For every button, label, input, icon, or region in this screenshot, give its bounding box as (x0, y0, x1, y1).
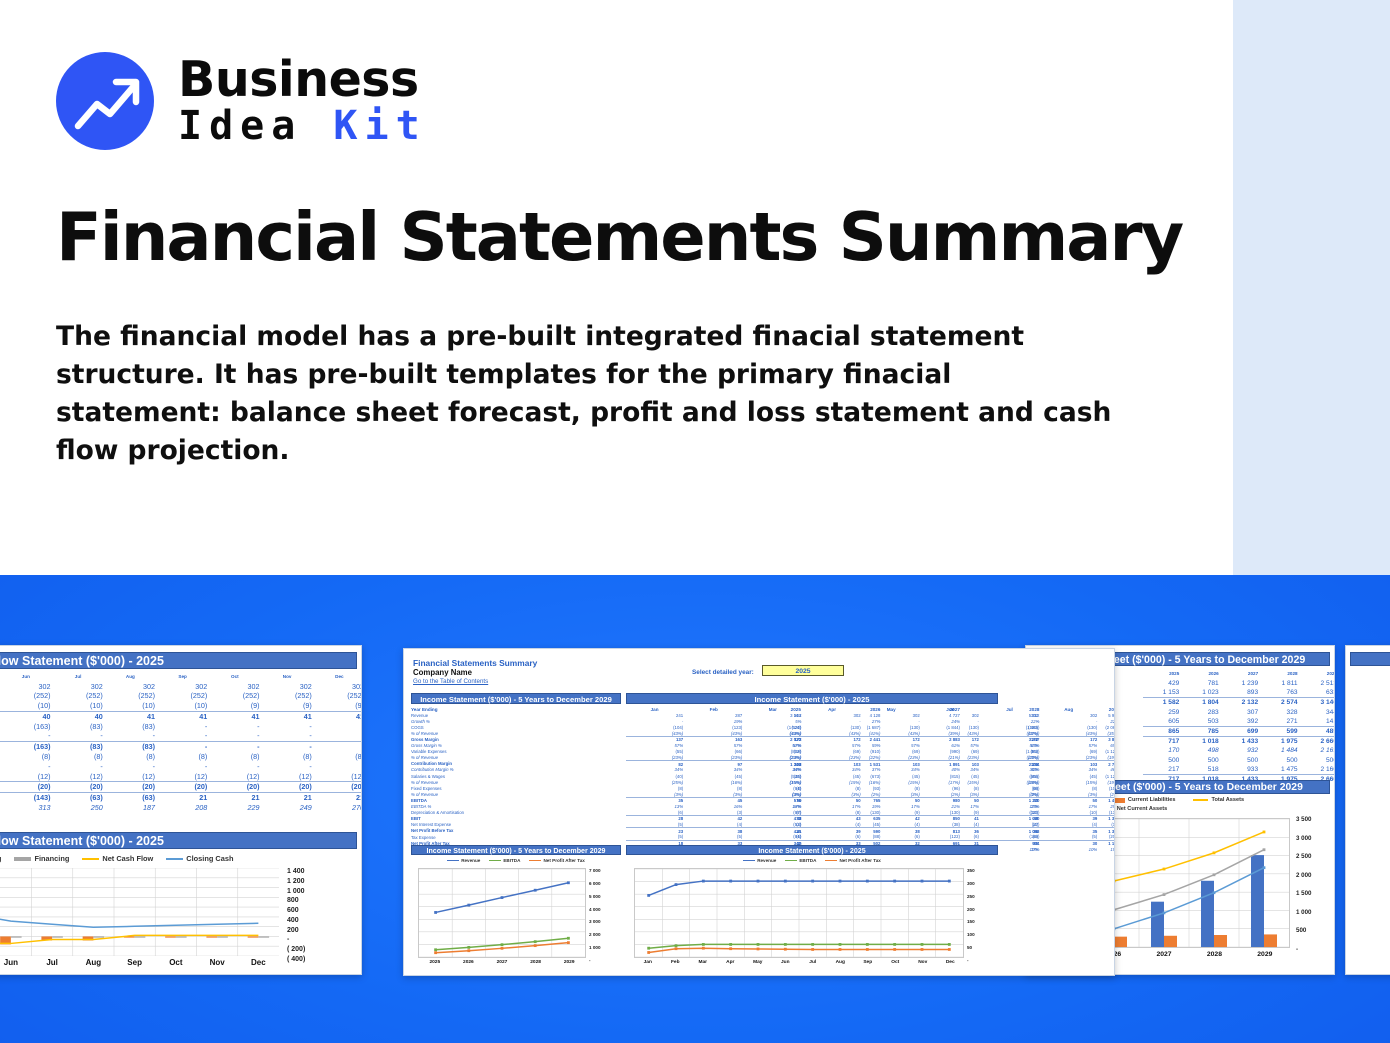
table-cell: 503 (1182, 717, 1221, 727)
table-cell: 249 (263, 803, 315, 813)
table-cell: 500 (1222, 755, 1261, 765)
table-row: (21)(20)(20)(20)(20)(20)(20)(20) (0, 782, 362, 793)
axis-tick-label: 1 000 (287, 888, 305, 895)
table-cell: 271 (1261, 717, 1300, 727)
table-cell: 518 (1182, 765, 1221, 775)
table-cell: 699 (1222, 727, 1261, 737)
table-cell: - (54, 731, 106, 741)
table-row: 93 (1350, 707, 1390, 717)
table-cell: 41 (158, 711, 210, 721)
table-cell: - (106, 761, 158, 771)
trending-up-arrow-icon (56, 52, 154, 150)
table-cell: 259 (1143, 707, 1182, 717)
monthly-income-plot-area (634, 868, 964, 958)
annual-income-statement-title: Income Statement ($'000) - 5 Years to De… (411, 693, 621, 704)
hero-section: Business Idea Kit Financial Statements S… (0, 0, 1390, 575)
axis-tick-label: Oct (882, 960, 910, 965)
table-cell: 229 (210, 803, 262, 813)
axis-tick-label: 7 000 (589, 868, 601, 873)
table-cell: 1 297 (1350, 698, 1390, 708)
legend-label: EBITDA (503, 858, 520, 863)
table-cell: (12) (106, 771, 158, 781)
table-cell: 3 146 (1301, 698, 1335, 708)
table-cell: 605 (1143, 717, 1182, 727)
axis-tick-label: Sep (854, 960, 882, 965)
legend-item: Net Profit After Tax (529, 858, 584, 863)
axis-tick-label: - (287, 936, 289, 943)
table-cell: - (158, 721, 210, 731)
table-cell: (163) (1, 741, 53, 751)
summary-sheet-title: Financial Statements Summary (413, 658, 537, 668)
table-cell: 1 975 (1261, 736, 1300, 746)
table-cell: 786 (1350, 727, 1390, 737)
table-cell: - (158, 731, 210, 741)
cash-flow-x-axis: MayJunJulAugSepOctNovDec (0, 958, 279, 967)
column-header: 2025 (1143, 669, 1182, 679)
legend-item: Financing (14, 854, 69, 863)
column-header: Nov (263, 672, 315, 681)
right-accent-panel (1233, 0, 1390, 575)
table-cell: 2 660 (1301, 736, 1335, 746)
legend-label: Closing Cash (186, 854, 233, 863)
axis-tick-label: 600 (287, 907, 299, 914)
table-cell: 429 (1143, 679, 1182, 689)
brand-name-kit: Kit (333, 103, 426, 149)
table-cell: - (263, 721, 315, 731)
table-header-row: Jan (1350, 669, 1390, 679)
table-cell: 763 (1261, 688, 1300, 698)
table-cell: - (263, 741, 315, 751)
axis-tick-label: Dec (238, 958, 279, 967)
column-header: Oct (210, 672, 262, 681)
table-cell: 302 (106, 681, 158, 691)
balance-sheet-partial-screenshot: Jan1 1741241 297936927865121 08150012512 (1345, 645, 1390, 975)
monthly-income-chart-legend: RevenueEBITDANet Profit After Tax (626, 858, 998, 863)
table-cell: - (54, 761, 106, 771)
column-header: Jul (54, 672, 106, 681)
table-cell: 865 (1143, 727, 1182, 737)
table-cell: 485 (1301, 727, 1335, 737)
legend-label: Net Cash Flow (102, 854, 153, 863)
axis-tick-label: Apr (717, 960, 745, 965)
table-cell: (8) (54, 752, 106, 762)
column-header: Dec (315, 672, 362, 681)
table-cell: 21 (210, 792, 262, 802)
column-header: Jan (1350, 669, 1390, 679)
table-cell: 932 (1222, 746, 1261, 756)
axis-tick-label: 350 (967, 868, 975, 873)
table-row: -------- (0, 731, 362, 741)
legend-swatch (82, 858, 99, 860)
table-cell: 21 (263, 792, 315, 802)
partial-title-bar (1350, 652, 1390, 666)
table-cell: 217 (1143, 765, 1182, 775)
cash-flow-table: MayJunJulAugSepOctNovDec3023023023023023… (0, 672, 362, 812)
axis-tick-label: Jul (32, 958, 73, 967)
axis-tick-label: 150 (967, 919, 975, 924)
table-cell: (20) (315, 782, 362, 793)
table-cell: - (315, 731, 362, 741)
table-cell: (20) (106, 782, 158, 793)
column-header: Aug (106, 672, 158, 681)
table-cell: 633 (1301, 688, 1335, 698)
legend-label: Investing (0, 854, 1, 863)
table-cell: 344 (1301, 707, 1335, 717)
legend-label: Revenue (757, 858, 776, 863)
table-cell: (20) (158, 782, 210, 793)
table-row: (13)(12)(12)(12)(12)(12)(12)(12) (0, 771, 362, 781)
table-cell: (8) (210, 752, 262, 762)
table-cell: 1 433 (1222, 736, 1261, 746)
table-cell: 1 081 (1350, 746, 1390, 756)
table-cell: 270 (315, 803, 362, 813)
legend-label: Revenue (461, 858, 480, 863)
legend-item: Closing Cash (166, 854, 233, 863)
table-row: 4340404141414141 (0, 711, 362, 721)
axis-tick-label: Feb (662, 960, 690, 965)
table-cell: 2 160 (1301, 765, 1335, 775)
table-cell: (63) (54, 792, 106, 802)
legend-item: EBITDA (785, 858, 816, 863)
table-cell: (9) (263, 701, 315, 711)
legend-label: Current Liabilities (1128, 797, 1176, 803)
axis-tick-label: - (967, 958, 969, 963)
brand-logo: Business Idea Kit (56, 52, 427, 150)
table-row: 124 (1350, 688, 1390, 698)
cash-flow-chart-title: Cash Flow Statement ($'000) - 2025 (0, 832, 357, 849)
page-description: The financial model has a pre-built inte… (56, 318, 1116, 470)
legend-label: EBITDA (799, 858, 816, 863)
table-row: (163)(163)(83)(83)---- (0, 741, 362, 751)
brand-name-idea: Idea (178, 103, 302, 149)
axis-tick-label: 2029 (552, 960, 586, 965)
table-cell: 1 239 (1222, 679, 1261, 689)
table-cell: 124 (1350, 688, 1390, 698)
legend-swatch (785, 860, 797, 862)
table-row: 786 (1350, 727, 1390, 737)
table-row: (8)(8)(8)(8)(8)(8)(8)(8) (0, 752, 362, 762)
table-cell: 41 (210, 711, 262, 721)
axis-tick-label: 1 500 (1296, 890, 1311, 897)
brand-name-business: Business (178, 55, 427, 105)
table-cell: (252) (54, 691, 106, 701)
table-cell: 498 (1182, 746, 1221, 756)
table-cell: (8) (263, 752, 315, 762)
legend-swatch (1193, 799, 1208, 801)
table-cell: (252) (263, 691, 315, 701)
table-cell: 500 (1182, 755, 1221, 765)
table-cell: 933 (1222, 765, 1261, 775)
axis-tick-label: Jun (0, 958, 32, 967)
legend-item: EBITDA (489, 858, 520, 863)
table-row: (163)(163)(83)(83)---- (0, 721, 362, 731)
table-cell: (12) (210, 771, 262, 781)
table-cell: (12) (1, 771, 53, 781)
axis-tick-label: 2028 (519, 960, 553, 965)
table-cell: - (1, 761, 53, 771)
table-cell: 302 (54, 681, 106, 691)
table-cell: 21 (315, 792, 362, 802)
axis-tick-label: May (744, 960, 772, 965)
cash-flow-plot-area (0, 868, 279, 956)
table-cell: 512 (1350, 775, 1390, 785)
table-cell: 328 (1261, 707, 1300, 717)
table-cell: 2 132 (1222, 698, 1261, 708)
table-cell: (20) (1, 782, 53, 793)
legend-swatch (166, 858, 183, 860)
table-cell: 41 (315, 711, 362, 721)
axis-tick-label: 5 000 (589, 894, 601, 899)
column-header: Jun (1, 672, 53, 681)
axis-tick-label: 200 (287, 927, 299, 934)
axis-tick-label: 4 000 (589, 907, 601, 912)
table-cell: (83) (106, 741, 158, 751)
table-row: 500 (1350, 755, 1390, 765)
axis-tick-label: Dec (937, 960, 965, 965)
table-cell: - (210, 741, 262, 751)
axis-tick-label: 3 500 (1296, 816, 1311, 823)
annual-income-x-axis: 20252026202720282029 (418, 960, 586, 965)
year-select-label: Select detailed year: (692, 669, 754, 676)
table-cell: - (210, 761, 262, 771)
axis-tick-label: 2 500 (1296, 853, 1311, 860)
table-cell: (63) (106, 792, 158, 802)
annual-income-y-axis: 7 0006 0005 0004 0003 0002 0001 000- (589, 864, 621, 962)
monthly-income-statement-table: JanFebMarAprMayJunJulAugSepOctNovDec2412… (626, 706, 1115, 852)
axis-tick-label: 6 000 (589, 881, 601, 886)
table-cell: 302 (210, 681, 262, 691)
table-row: 512 (1350, 736, 1390, 746)
table-cell: - (1, 731, 53, 741)
table-cell: 1 153 (1143, 688, 1182, 698)
axis-tick-label: 2 000 (589, 932, 601, 937)
axis-tick-label: 200 (967, 907, 975, 912)
monthly-income-chart-title: Income Statement ($'000) - 2025 (626, 845, 998, 855)
axis-tick-label: 2029 (1240, 951, 1290, 958)
table-cell: (252) (158, 691, 210, 701)
legend-item: Net Profit After Tax (825, 858, 880, 863)
legend-swatch (447, 860, 459, 862)
axis-tick-label: 1 000 (1296, 909, 1311, 916)
page-title: Financial Statements Summary (56, 198, 1182, 276)
legend-label: Net Current Assets (1117, 806, 1167, 812)
axis-tick-label: 1 400 (287, 868, 305, 875)
table-cell: 40 (1, 711, 53, 721)
axis-tick-label: Aug (73, 958, 114, 967)
table-cell: 1 018 (1182, 736, 1221, 746)
legend-item: Revenue (447, 858, 480, 863)
axis-tick-label: Jan (634, 960, 662, 965)
axis-tick-label: 2028 (1189, 951, 1239, 958)
table-cell: 41 (263, 711, 315, 721)
table-row: 302302302302302302302302 (0, 681, 362, 691)
table-row: 1 174 (1350, 679, 1390, 689)
legend-label: Net Profit After Tax (839, 858, 880, 863)
legend-swatch (825, 860, 837, 862)
legend-item: Current Liabilities (1110, 797, 1176, 803)
brand-name-idea-kit: Idea Kit (178, 105, 427, 147)
cash-flow-chart-legend: InvestingFinancingNet Cash FlowClosing C… (0, 854, 357, 863)
table-cell: (83) (106, 721, 158, 731)
table-row: 456313250187208229249270 (0, 803, 362, 813)
legend-swatch (743, 860, 755, 862)
table-cell: 21 (158, 792, 210, 802)
column-header: Sep (158, 672, 210, 681)
column-header: 2027 (1222, 669, 1261, 679)
table-cell: (10) (158, 701, 210, 711)
axis-tick-label: 250 (967, 894, 975, 899)
table-cell: 2 169 (1301, 746, 1335, 756)
table-cell: (143) (1, 792, 53, 802)
table-header-row: MayJunJulAugSepOctNovDec (0, 672, 362, 681)
balance-sheet-y-axis: 3 5003 0002 5002 0001 5001 000500- (1294, 812, 1334, 954)
table-cell: (163) (1, 721, 53, 731)
axis-tick-label: - (589, 958, 591, 963)
table-cell: 1 811 (1261, 679, 1300, 689)
table-cell: 1 484 (1261, 746, 1300, 756)
table-cell: 500 (1143, 755, 1182, 765)
table-cell: 313 (1, 803, 53, 813)
table-row: (249)(252)(252)(252)(252)(252)(252)(252) (0, 691, 362, 701)
table-cell: (8) (315, 752, 362, 762)
table-cell: 208 (158, 803, 210, 813)
axis-tick-label: 2025 (418, 960, 452, 965)
table-row: 1 081 (1350, 746, 1390, 756)
table-cell: 392 (1222, 717, 1261, 727)
table-row: (10)(10)(10)(10)(10)(9)(9)(9) (0, 701, 362, 711)
legend-item: Total Assets (1193, 797, 1244, 803)
table-cell: 1 804 (1182, 698, 1221, 708)
table-cell: (252) (210, 691, 262, 701)
axis-tick-label: Oct (155, 958, 196, 967)
table-cell: 302 (263, 681, 315, 691)
table-cell: (252) (315, 691, 362, 701)
table-cell: 302 (315, 681, 362, 691)
table-cell: - (106, 731, 158, 741)
table-cell: 1 582 (1143, 698, 1182, 708)
table-cell: - (158, 741, 210, 751)
axis-tick-label: ( 200) (287, 946, 305, 953)
table-cell: - (315, 741, 362, 751)
table-cell: (12) (54, 771, 106, 781)
cash-flow-screenshot: Cash Flow Statement ($'000) - 2025 MayJu… (0, 645, 362, 975)
table-cell: 500 (1261, 755, 1300, 765)
table-cell: 500 (1301, 755, 1335, 765)
brand-wordmark: Business Idea Kit (178, 55, 427, 147)
annual-income-chart-title: Income Statement ($'000) - 5 Years to De… (411, 845, 621, 855)
column-header: 2029 (1301, 669, 1335, 679)
annual-income-chart-legend: RevenueEBITDANet Profit After Tax (411, 858, 621, 863)
annual-income-plot-area (418, 868, 586, 958)
table-cell: (12) (263, 771, 315, 781)
legend-item: Revenue (743, 858, 776, 863)
table-cell: 500 (1350, 755, 1390, 765)
table-cell: (20) (263, 782, 315, 793)
table-cell: 781 (1182, 679, 1221, 689)
axis-tick-label: Jun (772, 960, 800, 965)
table-cell: (10) (106, 701, 158, 711)
financial-summary-screenshot: Financial Statements Summary Company Nam… (403, 648, 1115, 976)
table-cell: 40 (54, 711, 106, 721)
table-cell: (252) (106, 691, 158, 701)
table-cell: - (263, 731, 315, 741)
table-row: 692 (1350, 717, 1390, 727)
table-row: -------- (0, 761, 362, 771)
axis-tick-label: Sep (114, 958, 155, 967)
table-cell: 512 (1350, 736, 1390, 746)
table-cell: - (210, 731, 262, 741)
table-cell: (8) (1, 752, 53, 762)
monthly-income-statement-title: Income Statement ($'000) - 2025 (626, 693, 998, 704)
axis-tick-label: 800 (287, 897, 299, 904)
table-cell: (10) (54, 701, 106, 711)
table-cell: 1 475 (1261, 765, 1300, 775)
cash-flow-y-axis: 1 4001 2001 000800600400200-( 200)( 400) (281, 864, 353, 960)
axis-tick-label: Nov (197, 958, 238, 967)
table-row: 12 (1350, 765, 1390, 775)
axis-tick-label: 100 (967, 932, 975, 937)
table-cell: (8) (106, 752, 158, 762)
table-cell: 10% (1040, 846, 1099, 852)
table-cell: (12) (158, 771, 210, 781)
axis-tick-label: 300 (967, 881, 975, 886)
table-cell: (252) (1, 691, 53, 701)
axis-tick-label: Mar (689, 960, 717, 965)
table-cell: 599 (1261, 727, 1300, 737)
legend-swatch (529, 860, 541, 862)
table-row: (141)(143)(63)(63)21212121 (0, 792, 362, 802)
table-cell: (10) (1, 701, 53, 711)
legend-swatch (14, 857, 31, 861)
axis-tick-label: - (1296, 946, 1298, 953)
legend-item: Investing (0, 854, 1, 863)
table-cell: 692 (1350, 717, 1390, 727)
axis-tick-label: ( 400) (287, 956, 305, 963)
table-cell: 141 (1301, 717, 1335, 727)
table-cell: 307 (1222, 707, 1261, 717)
table-cell: 2 513 (1301, 679, 1335, 689)
table-of-contents-link[interactable]: Go to the Table of Contents (413, 678, 488, 685)
table-cell: 187 (106, 803, 158, 813)
table-cell: 717 (1143, 736, 1182, 746)
axis-tick-label: 500 (1296, 927, 1306, 934)
table-cell: 785 (1182, 727, 1221, 737)
table-cell: - (315, 721, 362, 731)
axis-tick-label: 3 000 (589, 919, 601, 924)
cash-flow-table-title: Cash Flow Statement ($'000) - 2025 (0, 652, 357, 669)
table-cell: - (315, 761, 362, 771)
axis-tick-label: 400 (287, 917, 299, 924)
table-cell: 250 (54, 803, 106, 813)
table-row: 512 (1350, 775, 1390, 785)
summary-company-name: Company Name (413, 668, 472, 677)
table-cell: (9) (315, 701, 362, 711)
axis-tick-label: 50 (967, 945, 972, 950)
table-cell: (20) (54, 782, 106, 793)
table-cell: 12 (1350, 765, 1390, 775)
monthly-income-x-axis: JanFebMarAprMayJunJulAugSepOctNovDec (634, 960, 964, 965)
legend-label: Financing (34, 854, 69, 863)
table-cell: - (263, 761, 315, 771)
table-cell: (12) (315, 771, 362, 781)
year-select-input[interactable]: 2025 (762, 665, 844, 676)
axis-tick-label: Jul (799, 960, 827, 965)
table-cell: 1 174 (1350, 679, 1390, 689)
table-cell: - (210, 721, 262, 731)
table-cell: 93 (1350, 707, 1390, 717)
partial-jan-column-table: Jan1 1741241 297936927865121 08150012512 (1350, 669, 1390, 784)
axis-tick-label: Nov (909, 960, 937, 965)
